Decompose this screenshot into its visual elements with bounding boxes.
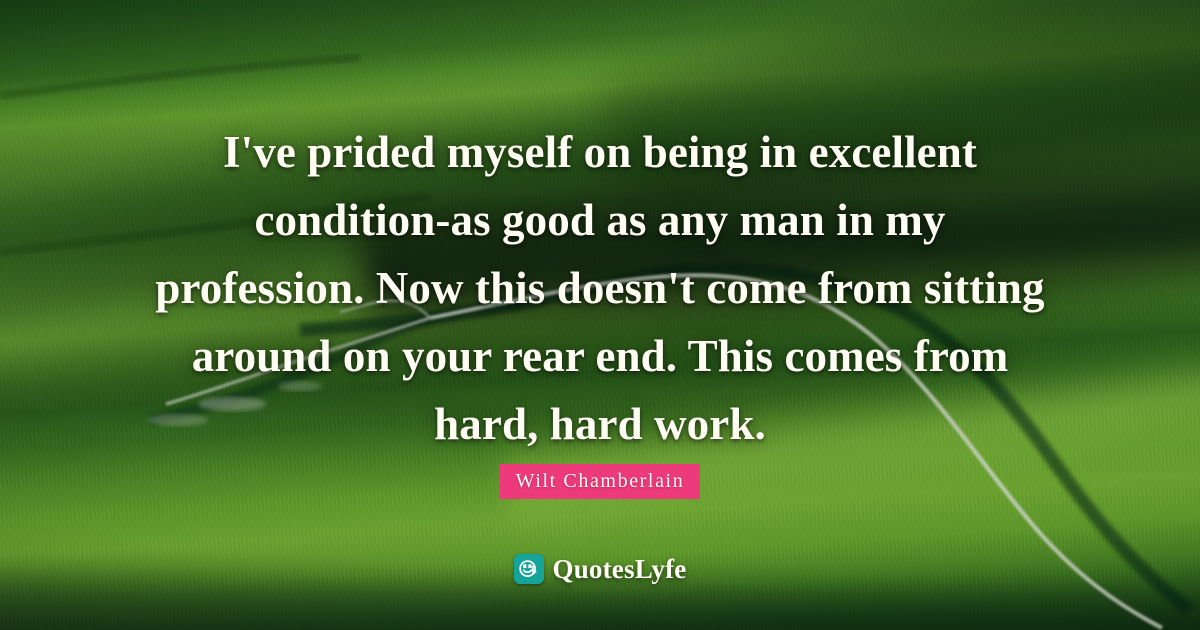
quote-block: I've prided myself on being in excellent… [150,118,1050,458]
brand-name: QuotesLyfe [553,556,687,583]
quote-smiley-icon [514,554,544,584]
brand-logo[interactable]: QuotesLyfe [0,554,1200,584]
card-content: I've prided myself on being in excellent… [0,0,1200,630]
author-attribution: Wilt Chamberlain [0,464,1200,499]
author-name-badge[interactable]: Wilt Chamberlain [500,464,701,499]
quote-text: I've prided myself on being in excellent… [150,118,1050,458]
quote-card: I've prided myself on being in excellent… [0,0,1200,630]
